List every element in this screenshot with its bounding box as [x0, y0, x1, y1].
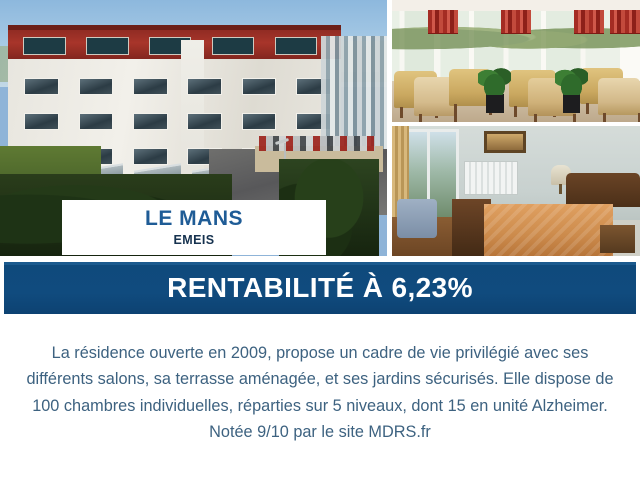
facade-window	[242, 113, 276, 130]
yield-banner: RENTABILITÉ À 6,23%	[4, 262, 636, 314]
window-row	[24, 113, 330, 130]
facade-window	[79, 78, 113, 95]
facade-window	[24, 78, 58, 95]
wall-artwork	[484, 131, 526, 153]
dormer-windows	[23, 37, 317, 55]
facade-window	[24, 113, 58, 130]
valance	[501, 10, 531, 34]
valance	[610, 10, 640, 34]
potted-plant	[563, 94, 580, 113]
page-title: LE MANS	[145, 208, 243, 230]
valance	[574, 10, 604, 34]
valance	[428, 10, 458, 34]
lounge-armchairs	[392, 54, 640, 117]
facade-window	[187, 78, 221, 95]
brochure-slide: LE MANS EMEIS RENTABILITÉ À 6,23% La rés…	[0, 0, 640, 480]
nightstand	[600, 225, 635, 254]
dormer-window	[275, 37, 317, 55]
facade-window	[133, 78, 167, 95]
facade-window	[187, 113, 221, 130]
bedroom-photo	[392, 126, 640, 256]
photo-collage: LE MANS EMEIS	[0, 0, 640, 256]
description-paragraph: La résidence ouverte en 2009, propose un…	[18, 340, 622, 446]
facade-window	[242, 78, 276, 95]
bedroom-armchair	[397, 199, 437, 238]
armchair	[598, 78, 640, 115]
radiator	[464, 161, 519, 195]
potted-plant	[486, 94, 503, 113]
operator-name: EMEIS	[174, 233, 215, 247]
dormer-window	[86, 37, 128, 55]
location-caption-box: LE MANS EMEIS	[62, 200, 326, 255]
yield-headline: RENTABILITÉ À 6,23%	[167, 272, 473, 304]
window-valances	[392, 10, 640, 34]
dormer-window	[212, 37, 254, 55]
bed-headboard	[566, 173, 640, 207]
bedspread	[484, 204, 613, 256]
facade-window	[133, 113, 167, 130]
dormer-window	[23, 37, 65, 55]
facade-window	[79, 113, 113, 130]
window-row	[24, 78, 330, 95]
facade-window	[133, 148, 167, 165]
lounge-photo	[392, 0, 640, 122]
